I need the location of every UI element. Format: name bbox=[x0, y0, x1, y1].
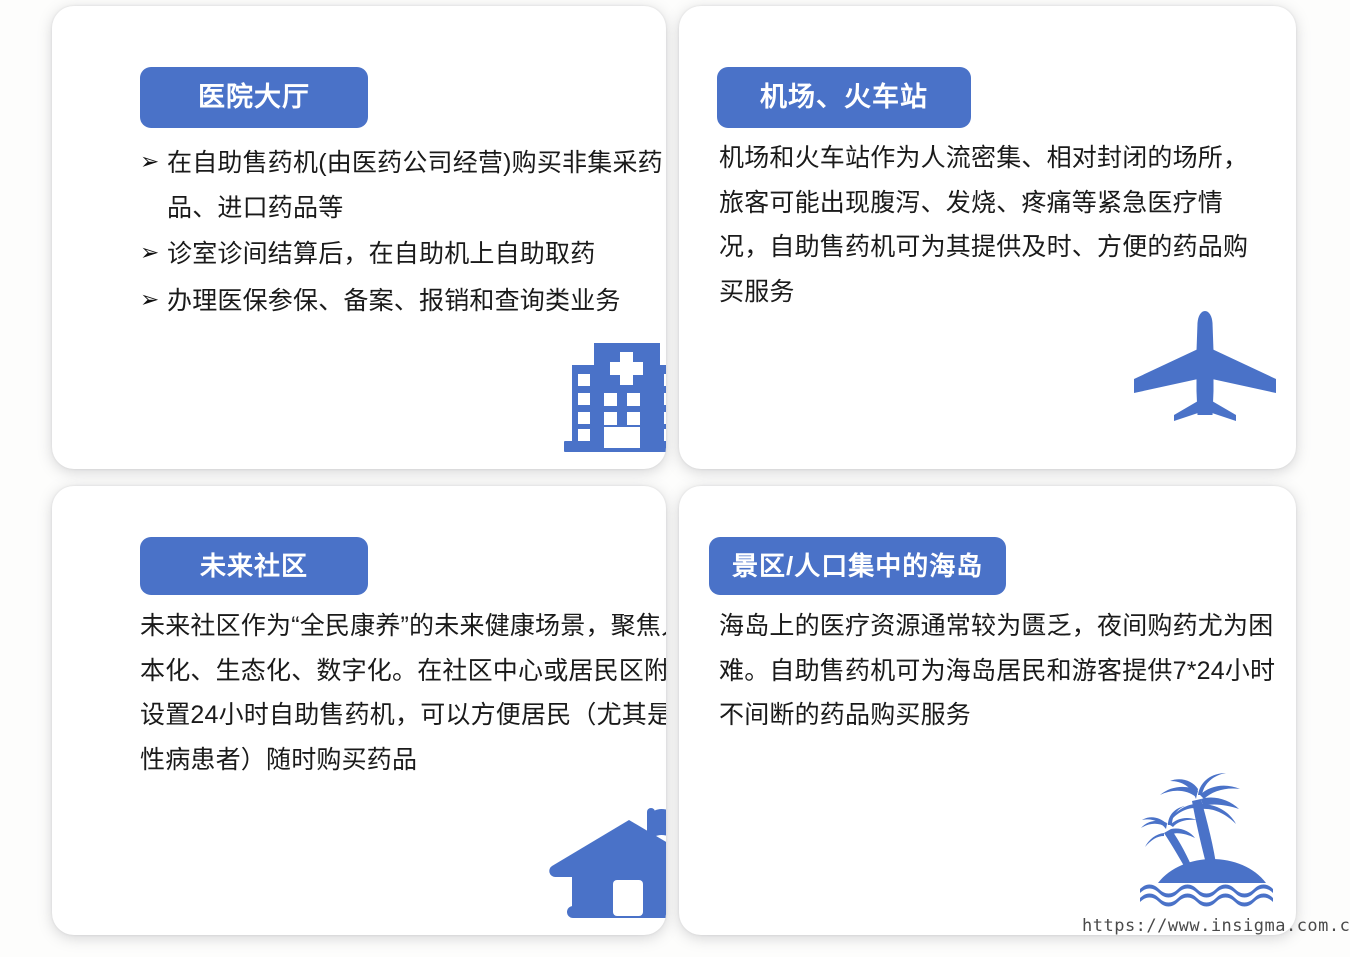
card-title-badge-hospital-lobby: 医院大厅 bbox=[140, 67, 368, 128]
scenario-card-hospital-lobby: 医院大厅 ➢ 在自助售药机(由医药公司经营)购买非集采药品、进口药品等 ➢ 诊室… bbox=[52, 6, 666, 469]
card-paragraph-airport-train-station: 机场和火车站作为人流密集、相对封闭的场所，旅客可能出现腹泻、发烧、疼痛等紧急医疗… bbox=[719, 136, 1264, 314]
hospital-icon bbox=[552, 338, 666, 463]
card-title-badge-airport-train-station: 机场、火车站 bbox=[717, 67, 971, 128]
arrow-bullet-icon: ➢ bbox=[140, 279, 159, 320]
arrow-bullet-icon: ➢ bbox=[140, 232, 159, 273]
house-flag-icon bbox=[547, 804, 666, 932]
card-title-badge-scenic-island: 景区/人口集中的海岛 bbox=[709, 537, 1006, 595]
island-palm-icon bbox=[1122, 771, 1296, 911]
list-item-label: 在自助售药机(由医药公司经营)购买非集采药品、进口药品等 bbox=[167, 149, 663, 222]
list-item: ➢ 诊室诊间结算后，在自助机上自助取药 bbox=[140, 232, 666, 277]
list-item: ➢ 在自助售药机(由医药公司经营)购买非集采药品、进口药品等 bbox=[140, 141, 666, 230]
airplane-icon bbox=[1130, 309, 1280, 429]
scenario-card-grid: 医院大厅 ➢ 在自助售药机(由医药公司经营)购买非集采药品、进口药品等 ➢ 诊室… bbox=[0, 0, 1350, 957]
list-item-label: 办理医保参保、备案、报销和查询类业务 bbox=[167, 287, 621, 315]
card-title-badge-future-community: 未来社区 bbox=[140, 537, 368, 595]
list-item: ➢ 办理医保参保、备案、报销和查询类业务 bbox=[140, 279, 666, 324]
bullet-list-hospital-lobby: ➢ 在自助售药机(由医药公司经营)购买非集采药品、进口药品等 ➢ 诊室诊间结算后… bbox=[140, 141, 666, 325]
scenario-card-airport-train-station: 机场、火车站 机场和火车站作为人流密集、相对封闭的场所，旅客可能出现腹泻、发烧、… bbox=[679, 6, 1296, 469]
scenario-card-future-community: 未来社区 未来社区作为“全民康养”的未来健康场景，聚焦人本化、生态化、数字化。在… bbox=[52, 486, 666, 935]
watermark-url: https://www.insigma.com.cn/ bbox=[1082, 916, 1350, 936]
card-paragraph-future-community: 未来社区作为“全民康养”的未来健康场景，聚焦人本化、生态化、数字化。在社区中心或… bbox=[140, 604, 666, 782]
card-paragraph-scenic-island: 海岛上的医疗资源通常较为匮乏，夜间购药尤为困难。自助售药机可为海岛居民和游客提供… bbox=[719, 604, 1279, 738]
scenario-card-scenic-island: 景区/人口集中的海岛 海岛上的医疗资源通常较为匮乏，夜间购药尤为困难。自助售药机… bbox=[679, 486, 1296, 935]
list-item-label: 诊室诊间结算后，在自助机上自助取药 bbox=[167, 240, 595, 268]
arrow-bullet-icon: ➢ bbox=[140, 141, 159, 182]
